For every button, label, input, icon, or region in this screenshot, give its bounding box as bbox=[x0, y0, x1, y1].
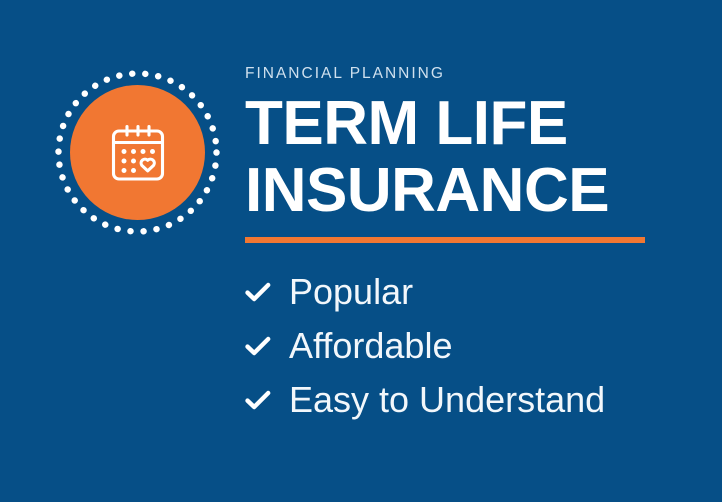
headline-line-2: INSURANCE bbox=[245, 157, 715, 224]
content-column: FINANCIAL PLANNING TERM LIFE INSURANCE P… bbox=[245, 64, 715, 443]
list-item-label: Popular bbox=[289, 272, 413, 312]
list-item-label: Affordable bbox=[289, 326, 452, 366]
headline-line-1: TERM LIFE bbox=[245, 90, 715, 157]
list-item: Affordable bbox=[245, 319, 715, 373]
kicker-text: FINANCIAL PLANNING bbox=[245, 64, 715, 84]
check-icon bbox=[245, 282, 271, 302]
page-title: TERM LIFE INSURANCE bbox=[245, 90, 715, 224]
check-icon bbox=[245, 336, 271, 356]
orange-circle bbox=[70, 85, 205, 220]
feature-list: Popular Affordable Easy to Understand bbox=[245, 265, 715, 427]
list-item-label: Easy to Understand bbox=[289, 380, 605, 420]
list-item: Easy to Understand bbox=[245, 373, 715, 427]
term-life-insurance-banner: FINANCIAL PLANNING TERM LIFE INSURANCE P… bbox=[0, 0, 722, 502]
badge bbox=[54, 69, 221, 236]
check-icon bbox=[245, 390, 271, 410]
orange-divider bbox=[245, 237, 645, 243]
calendar-heart-icon bbox=[107, 122, 169, 184]
list-item: Popular bbox=[245, 265, 715, 319]
